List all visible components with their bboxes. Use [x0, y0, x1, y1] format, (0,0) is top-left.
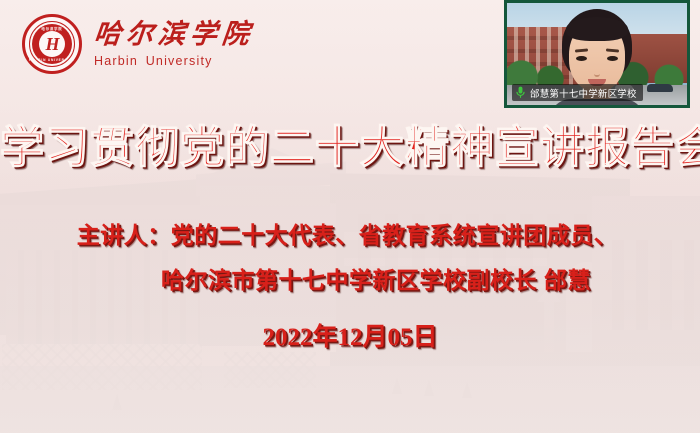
participant-name-badge: 邰慧第十七中学新区学校 [512, 84, 643, 101]
video-virtual-background-car [647, 84, 673, 92]
logo-wordmark: 哈尔滨学院 Harbin University [94, 21, 254, 68]
university-seal-icon: 哈尔滨学院 HARBIN UNIVERSITY H [22, 14, 82, 74]
participant-video-tile[interactable]: 邰慧第十七中学新区学校 [504, 0, 690, 108]
speaker-credentials: 主讲人：党的二十大代表、省教育系统宣讲团成员、 哈尔滨市第十七中学新区学校副校长… [0, 224, 700, 292]
logo-name-chinese: 哈尔滨学院 [93, 21, 256, 48]
harbin-university-logo: 哈尔滨学院 HARBIN UNIVERSITY H 哈尔滨学院 Harbin U… [22, 14, 254, 74]
speaker-credentials-line-1: 主讲人：党的二十大代表、省教育系统宣讲团成员、 [0, 224, 700, 247]
speaker-credentials-line-2: 哈尔滨市第十七中学新区学校副校长 邰慧 [0, 269, 700, 292]
logo-name-english: Harbin University [94, 55, 254, 68]
microphone-icon[interactable] [515, 86, 526, 99]
slide-headline: 学习贯彻党的二十大精神宣讲报告会 [0, 126, 700, 170]
slide-date: 2022年12月05日 [0, 325, 700, 350]
presentation-slide: 哈尔滨学院 HARBIN UNIVERSITY H 哈尔滨学院 Harbin U… [0, 0, 700, 433]
participant-name-text: 邰慧第十七中学新区学校 [530, 86, 637, 100]
